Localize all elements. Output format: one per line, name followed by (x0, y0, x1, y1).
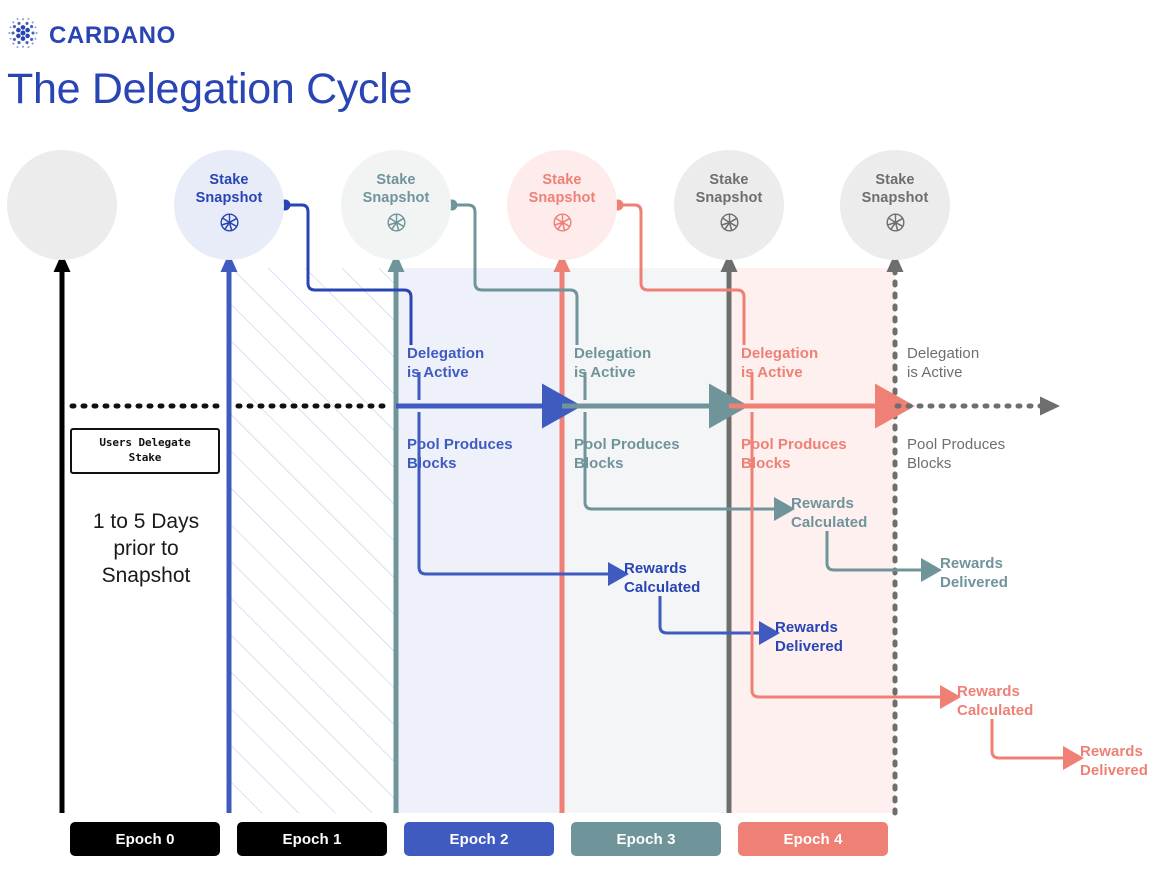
epoch-chip-label-4: Epoch 4 (783, 831, 842, 848)
stake-snapshot-circle-1[interactable]: Stake Snapshot (174, 150, 284, 260)
stake-snapshot-circle-2[interactable]: Stake Snapshot (341, 150, 451, 260)
epoch-chip-0[interactable]: Epoch 0 (70, 822, 220, 856)
epoch4-delegation-active-label: Delegation is Active (741, 344, 818, 382)
aperture-icon (719, 212, 740, 238)
users-delegate-stake-box: Users Delegate Stake (70, 428, 220, 474)
epoch3-rewards-calculated-label: Rewards Calculated (791, 494, 867, 532)
epoch5-delegation-active-label: Delegation is Active (907, 344, 979, 382)
epoch4-rewards-delivered-label: Rewards Delivered (1080, 742, 1148, 780)
epoch-chip-3[interactable]: Epoch 3 (571, 822, 721, 856)
epoch2-rewards-delivered-label: Rewards Delivered (775, 618, 843, 656)
epoch-chip-2[interactable]: Epoch 2 (404, 822, 554, 856)
epoch3-pool-produces-label: Pool Produces Blocks (574, 435, 680, 473)
epoch-chip-label-0: Epoch 0 (115, 831, 174, 848)
epoch-chip-label-3: Epoch 3 (616, 831, 675, 848)
epoch4-pool-produces-label: Pool Produces Blocks (741, 435, 847, 473)
stake-snapshot-circle-5[interactable]: Stake Snapshot (840, 150, 950, 260)
epoch5-active-arrowhead (1040, 397, 1060, 416)
epoch3-rewards-delivered-label: Rewards Delivered (940, 554, 1008, 592)
epoch4-rewards-calculated-label: Rewards Calculated (957, 682, 1033, 720)
epoch-chip-label-2: Epoch 2 (449, 831, 508, 848)
epoch2-rewards-calculated-label: Rewards Calculated (624, 559, 700, 597)
epoch3-delegation-active-label: Delegation is Active (574, 344, 651, 382)
stake-snapshot-circle-0[interactable] (7, 150, 117, 260)
aperture-icon (552, 212, 573, 238)
epoch2-delegation-active-label: Delegation is Active (407, 344, 484, 382)
delegation-cycle-diagram: CARDANO The Delegation Cycle (0, 0, 1160, 875)
days-prior-to-snapshot-note: 1 to 5 Days prior to Snapshot (62, 509, 230, 590)
aperture-icon (386, 212, 407, 238)
stake-snapshot-label-4: Stake Snapshot (674, 172, 784, 207)
epoch5-pool-produces-label: Pool Produces Blocks (907, 435, 1005, 473)
stake-snapshot-label-3: Stake Snapshot (507, 172, 617, 207)
salmon-to-rewards-delivered (992, 719, 1069, 758)
aperture-icon (885, 212, 906, 238)
epoch-chip-4[interactable]: Epoch 4 (738, 822, 888, 856)
stake-snapshot-circle-4[interactable]: Stake Snapshot (674, 150, 784, 260)
aperture-icon (219, 212, 240, 238)
epoch2-pool-produces-label: Pool Produces Blocks (407, 435, 513, 473)
epoch-chip-label-1: Epoch 1 (282, 831, 341, 848)
epoch1-hatched-band (229, 268, 396, 813)
stake-snapshot-label-5: Stake Snapshot (840, 172, 950, 207)
epoch-chip-1[interactable]: Epoch 1 (237, 822, 387, 856)
stake-snapshot-circle-3[interactable]: Stake Snapshot (507, 150, 617, 260)
stake-snapshot-label-2: Stake Snapshot (341, 172, 451, 207)
stake-snapshot-label-1: Stake Snapshot (174, 172, 284, 207)
